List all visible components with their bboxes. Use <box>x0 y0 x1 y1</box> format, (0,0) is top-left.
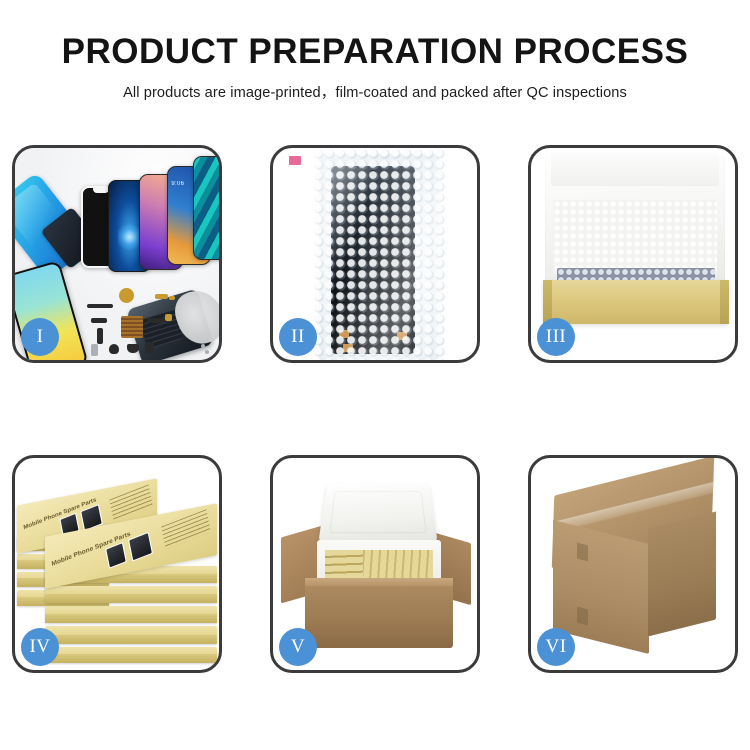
step-badge-6: VI <box>537 628 575 666</box>
yellow-tray-graphic <box>543 280 729 324</box>
page-header: PRODUCT PREPARATION PROCESS All products… <box>0 0 750 102</box>
process-step-panel-2[interactable]: II <box>270 145 480 363</box>
step-badge-5: V <box>279 628 317 666</box>
step-badge-1: I <box>21 318 59 356</box>
foam-lid-graphic <box>318 484 438 543</box>
stacked-box-front-4 <box>45 626 217 644</box>
carton-body-graphic <box>305 586 453 648</box>
stacked-box-front-5 <box>45 647 217 663</box>
stacked-box-front-3 <box>45 606 217 623</box>
process-step-panel-4[interactable]: Mobile Phone Spare Parts Mobile Phone Sp… <box>12 455 222 673</box>
foam-sheet-graphic <box>553 200 717 274</box>
process-step-panel-3[interactable]: III <box>528 145 738 363</box>
process-step-panel-6[interactable]: VI <box>528 455 738 673</box>
step-badge-4: IV <box>21 628 59 666</box>
carton-seam-lower <box>577 607 588 626</box>
sealed-carton-side <box>648 512 716 637</box>
page-subtitle: All products are image-printed，film-coat… <box>0 81 750 102</box>
step-badge-2: II <box>279 318 317 356</box>
process-step-panel-1[interactable]: 9:06 <box>12 145 222 363</box>
pink-label-tab <box>289 156 301 165</box>
process-step-panel-5[interactable]: V <box>270 455 480 673</box>
step-badge-3: III <box>537 318 575 356</box>
process-steps-grid: 9:06 <box>12 145 738 682</box>
page-title: PRODUCT PREPARATION PROCESS <box>0 34 750 71</box>
stacked-box-front-2 <box>45 586 217 603</box>
plastic-sheen <box>313 148 447 360</box>
carton-seam-upper <box>577 543 588 562</box>
